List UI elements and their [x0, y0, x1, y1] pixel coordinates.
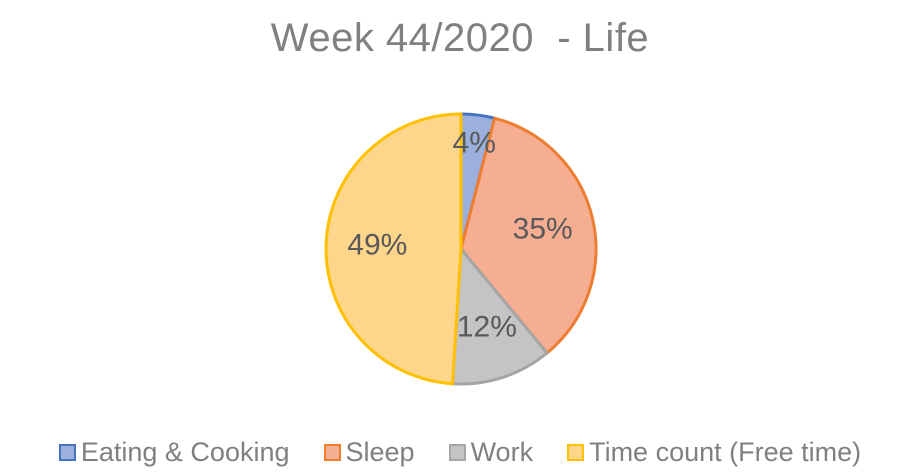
legend-item[interactable]: Sleep — [324, 436, 415, 468]
legend-swatch-icon — [324, 444, 341, 461]
pie-data-label: 12% — [457, 311, 517, 344]
legend-swatch-icon — [449, 444, 466, 461]
plot-area: 4%35%12%49% — [0, 85, 920, 405]
chart-title: Week 44/2020 - Life — [0, 12, 920, 64]
legend-swatch-icon — [59, 444, 76, 461]
legend-item-label: Sleep — [346, 436, 415, 468]
pie-data-label: 4% — [453, 126, 496, 159]
legend-item-label: Time count (Free time) — [589, 436, 861, 468]
legend-swatch-icon — [567, 444, 584, 461]
legend-item[interactable]: Eating & Cooking — [59, 436, 290, 468]
pie-chart-container: Week 44/2020 - Life 4%35%12%49% Eating &… — [0, 0, 920, 476]
legend-item-label: Work — [471, 436, 534, 468]
pie-graphic: 4%35%12%49% — [0, 85, 920, 405]
legend-item[interactable]: Time count (Free time) — [567, 436, 861, 468]
pie-data-label: 35% — [513, 213, 573, 246]
legend-item[interactable]: Work — [449, 436, 534, 468]
legend-item-label: Eating & Cooking — [81, 436, 290, 468]
chart-legend: Eating & CookingSleepWorkTime count (Fre… — [0, 436, 920, 468]
pie-data-label: 49% — [347, 228, 407, 261]
